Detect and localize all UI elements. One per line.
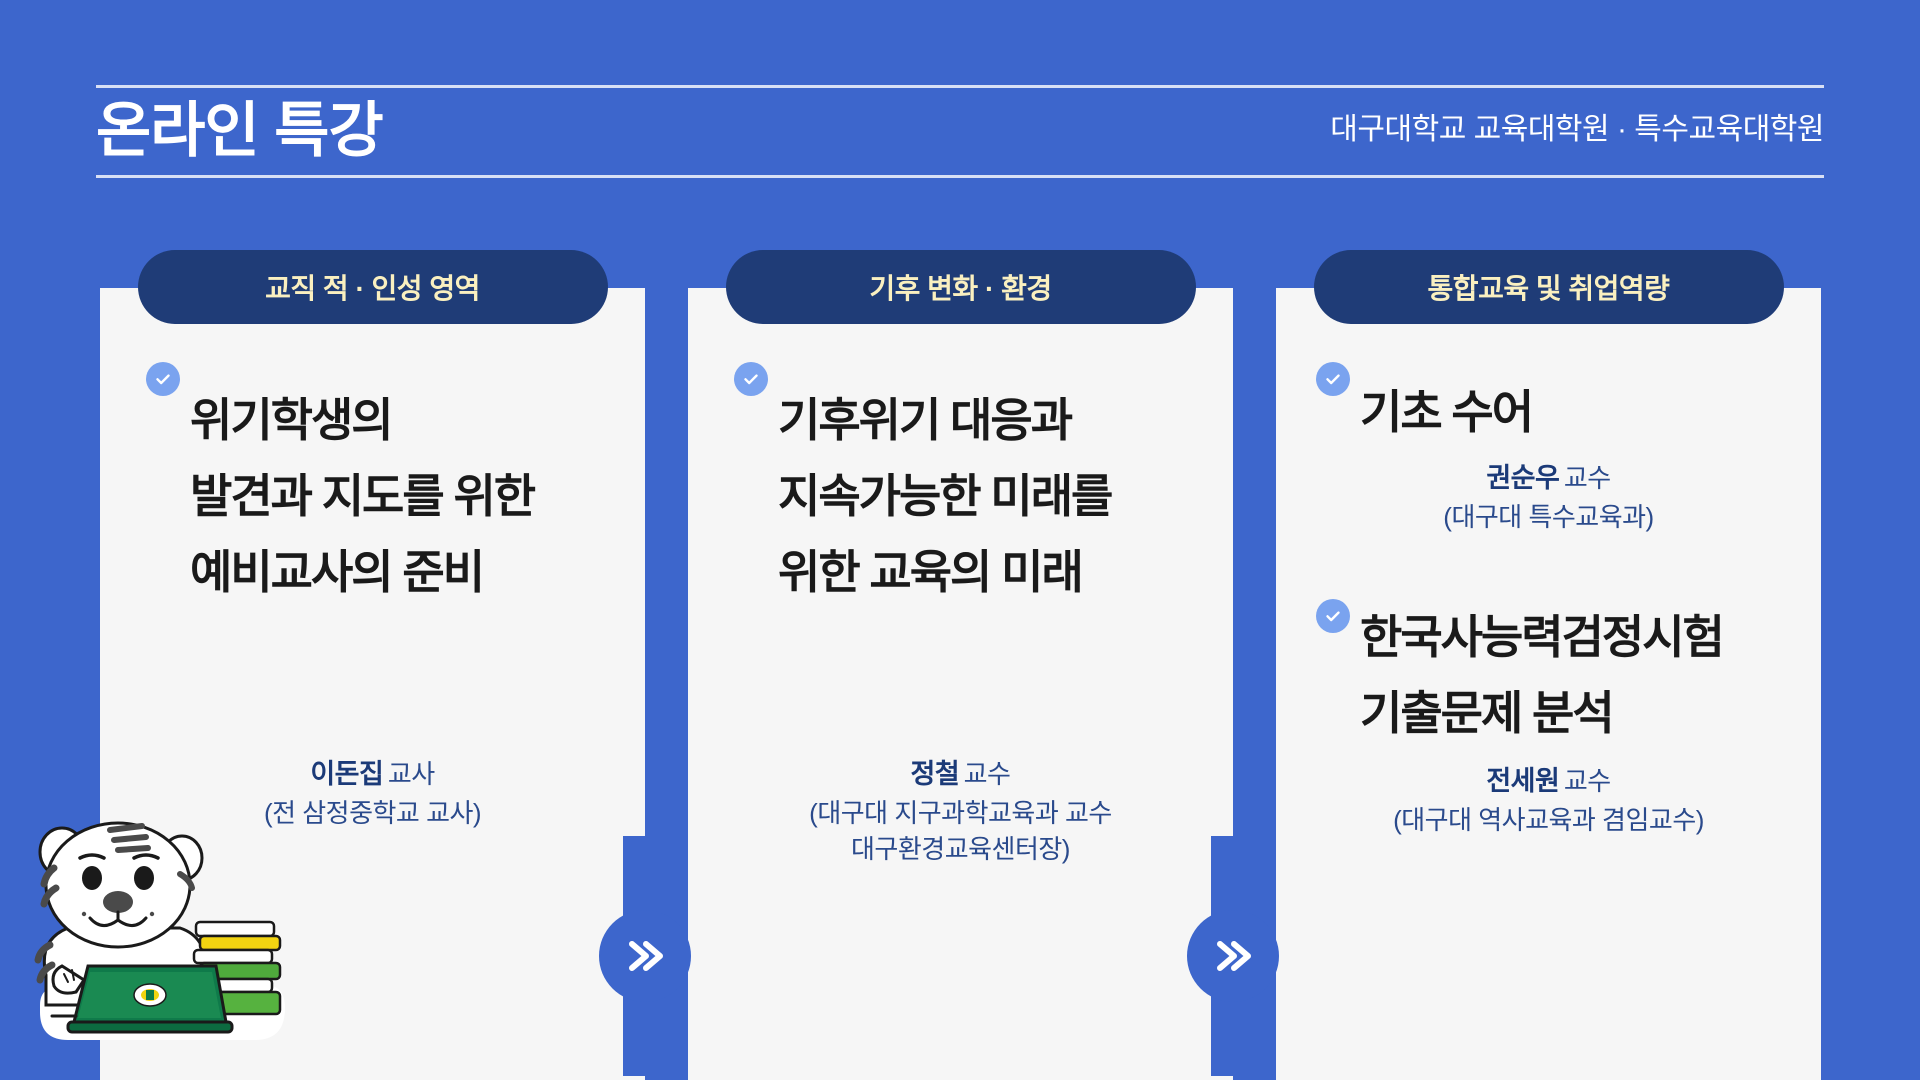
- lecture-title-line: 위기학생의: [190, 382, 617, 458]
- lecture-title-line: 기후위기 대응과: [778, 382, 1205, 458]
- check-circle-icon: [146, 362, 180, 396]
- instructor-role: 교수: [1564, 463, 1611, 493]
- organization-name: 대구대학교 교육대학원 · 특수교육대학원: [1330, 104, 1824, 148]
- instructor-info: 전세원 교수 (대구대 역사교육과 겸임교수): [1304, 759, 1793, 838]
- header-divider-top: [96, 85, 1824, 88]
- card-category-label: 교직 적 · 인성 영역: [265, 267, 480, 307]
- check-circle-icon: [1316, 599, 1350, 633]
- card-category-badge: 교직 적 · 인성 영역: [138, 250, 608, 324]
- instructor-affiliation: (대구대 특수교육과): [1304, 499, 1793, 535]
- lecture-title-line: 위한 교육의 미래: [778, 534, 1205, 610]
- lecture-title-line: 발견과 지도를 위한: [190, 458, 617, 534]
- page-header: 온라인 특강 대구대학교 교육대학원 · 특수교육대학원: [0, 0, 1920, 200]
- instructor-name-row: 정철 교수: [688, 752, 1233, 791]
- card-connector-arrow: [1181, 836, 1285, 1076]
- lecture-title: 기후위기 대응과 지속가능한 미래를 위한 교육의 미래: [778, 382, 1205, 610]
- instructor-role: 교수: [964, 759, 1011, 789]
- header-divider-bottom: [96, 175, 1824, 178]
- card-body: 기후위기 대응과 지속가능한 미래를 위한 교육의 미래 정철 교수 (대구대 …: [688, 362, 1233, 1080]
- lecture-title-line: 기출문제 분석: [1360, 675, 1793, 751]
- lecture-card[interactable]: 기후 변화 · 환경 기후위기 대응과 지속가능한 미래를 위한 교육의 미래 …: [688, 288, 1233, 1080]
- instructor-name: 정철: [911, 759, 960, 789]
- tiger-mascot-icon: [10, 790, 300, 1060]
- instructor-affiliation: (대구대 역사교육과 겸임교수): [1304, 802, 1793, 838]
- lecture-entry: 기후위기 대응과 지속가능한 미래를 위한 교육의 미래: [734, 362, 1205, 610]
- lecture-entry: 위기학생의 발견과 지도를 위한 예비교사의 준비: [146, 362, 617, 610]
- instructor-info: 권순우 교수 (대구대 특수교육과): [1304, 456, 1793, 535]
- card-body: 기초 수어 권순우 교수 (대구대 특수교육과) 한국사능력검정시험 기출문: [1276, 362, 1821, 1080]
- instructor-info: 정철 교수 (대구대 지구과학교육과 교수 대구환경교육센터장): [688, 752, 1233, 867]
- instructor-name-row: 전세원 교수: [1304, 759, 1793, 798]
- instructor-name: 이돈집: [310, 759, 383, 789]
- lecture-title-line: 기초 수어: [1360, 374, 1793, 450]
- instructor-role: 교수: [1564, 766, 1611, 796]
- lecture-entry: 한국사능력검정시험 기출문제 분석: [1316, 599, 1793, 751]
- lecture-title: 위기학생의 발견과 지도를 위한 예비교사의 준비: [190, 382, 617, 610]
- lecture-title-line: 한국사능력검정시험: [1360, 599, 1793, 675]
- instructor-affiliation-line: (대구대 특수교육과): [1304, 499, 1793, 535]
- double-chevron-right-icon: [1187, 910, 1279, 1002]
- instructor-role: 교사: [388, 759, 435, 789]
- card-connector-arrow: [593, 836, 697, 1076]
- page-title: 온라인 특강: [96, 92, 383, 170]
- instructor-name-row: 권순우 교수: [1304, 456, 1793, 495]
- instructor-affiliation-line: (대구대 역사교육과 겸임교수): [1304, 802, 1793, 838]
- card-category-label: 통합교육 및 취업역량: [1428, 267, 1670, 307]
- check-circle-icon: [734, 362, 768, 396]
- lecture-title-line: 지속가능한 미래를: [778, 458, 1205, 534]
- instructor-name: 권순우: [1486, 463, 1559, 493]
- card-category-label: 기후 변화 · 환경: [869, 267, 1051, 307]
- instructor-affiliation: (대구대 지구과학교육과 교수 대구환경교육센터장): [688, 795, 1233, 867]
- double-chevron-right-icon: [599, 910, 691, 1002]
- instructor-name: 전세원: [1486, 766, 1559, 796]
- instructor-name-row: 이돈집 교사: [100, 752, 645, 791]
- lecture-card[interactable]: 통합교육 및 취업역량 기초 수어 권순우 교수 (대구대 특수교육과): [1276, 288, 1821, 1080]
- lecture-entry: 기초 수어: [1316, 362, 1793, 450]
- card-category-badge: 기후 변화 · 환경: [726, 250, 1196, 324]
- check-circle-icon: [1316, 362, 1350, 396]
- lecture-title: 한국사능력검정시험 기출문제 분석: [1360, 599, 1793, 751]
- card-category-badge: 통합교육 및 취업역량: [1314, 250, 1784, 324]
- instructor-affiliation-line: (대구대 지구과학교육과 교수: [688, 795, 1233, 831]
- instructor-affiliation-line: 대구환경교육센터장): [688, 831, 1233, 867]
- lecture-title: 기초 수어: [1360, 374, 1793, 450]
- lecture-title-line: 예비교사의 준비: [190, 534, 617, 610]
